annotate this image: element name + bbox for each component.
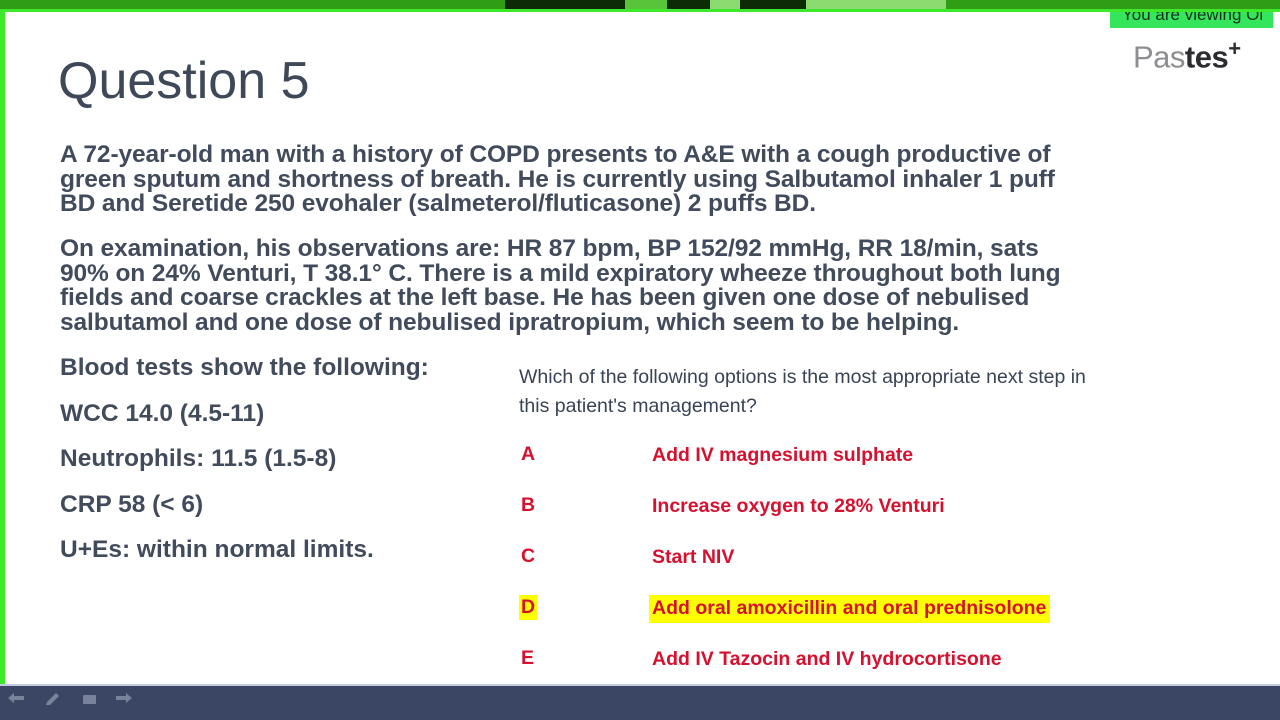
previous-slide-icon[interactable] [8,693,30,709]
blood-test-result: Neutrophils: 11.5 (1.5-8) [60,445,336,473]
vignette-line: green sputum and shortness of breath. He… [60,168,1235,193]
option-text: Add IV Tazocin and IV hydrocortisone [649,646,1006,674]
presentation-screen: Question 5 A 72-year-old man with a hist… [0,0,1280,720]
option-text: Add IV magnesium sulphate [649,442,917,470]
vignette-paragraph-2: On examination, his observations are: HR… [60,237,1235,335]
player-toolbar [0,684,1280,720]
logo-text-light: Pas [1133,39,1185,74]
slide-surface: Question 5 A 72-year-old man with a hist… [5,12,1280,684]
answer-option-d[interactable]: D Add oral amoxicillin and oral predniso… [519,595,1239,646]
left-frame-border [0,0,5,720]
answer-option-c[interactable]: C Start NIV [519,544,1239,595]
vignette-line: fields and coarse crackles at the left b… [60,286,1235,311]
progress-segment [667,0,710,9]
progress-segment [710,0,740,9]
option-text: Start NIV [649,544,738,572]
eraser-icon[interactable] [80,693,102,709]
player-controls [8,693,138,709]
progress-segment [505,0,625,9]
pastest-logo: Pastes+ [1133,32,1241,74]
answer-options-list: A Add IV magnesium sulphate B Increase o… [519,442,1239,697]
option-letter: C [519,544,537,569]
option-letter: D [519,595,537,620]
pen-icon[interactable] [44,693,66,709]
plus-icon: + [1228,36,1240,61]
page-title: Question 5 [58,50,310,112]
vignette-paragraph-1: A 72-year-old man with a history of COPD… [60,143,1235,217]
blood-tests-heading: Blood tests show the following: [60,354,429,382]
blood-test-result: WCC 14.0 (4.5-11) [60,400,264,428]
question-stem-line: this patient's management? [519,392,1219,421]
progress-segment [740,0,806,9]
vignette-line: BD and Seretide 250 evohaler (salmeterol… [60,192,1235,217]
progress-segment [806,0,946,9]
blood-test-result: U+Es: within normal limits. [60,536,374,564]
vignette-line: 90% on 24% Venturi, T 38.1° C. There is … [60,262,1235,287]
question-stem-line: Which of the following options is the mo… [519,363,1219,392]
answer-option-b[interactable]: B Increase oxygen to 28% Venturi [519,493,1239,544]
blood-test-result: CRP 58 (< 6) [60,491,203,519]
option-text: Add oral amoxicillin and oral prednisolo… [649,595,1050,623]
vignette-line: A 72-year-old man with a history of COPD… [60,143,1235,168]
option-letter: B [519,493,537,518]
option-text: Increase oxygen to 28% Venturi [649,493,949,521]
question-stem: Which of the following options is the mo… [519,363,1219,421]
vignette-line: On examination, his observations are: HR… [60,237,1235,262]
next-slide-icon[interactable] [116,693,138,709]
answer-option-a[interactable]: A Add IV magnesium sulphate [519,442,1239,493]
option-letter: A [519,442,537,467]
logo-text-bold: tes [1185,39,1228,74]
video-progress-strip[interactable] [0,0,1280,9]
option-letter: E [519,646,536,671]
vignette-line: salbutamol and one dose of nebulised ipr… [60,311,1235,336]
top-frame-border [0,9,1280,12]
progress-segment [625,0,667,9]
